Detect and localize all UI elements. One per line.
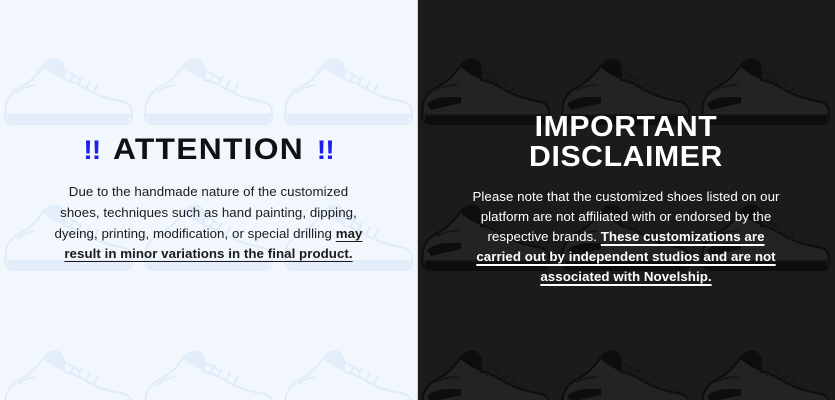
disclaimer-panel: IMPORTANT DISCLAIMER Please note that th… <box>417 0 835 400</box>
disclaimer-panel-content: IMPORTANT DISCLAIMER Please note that th… <box>417 113 835 286</box>
disclaimer-heading: IMPORTANT DISCLAIMER <box>434 113 819 173</box>
customization-disclaimer-banner: !! ATTENTION !! Due to the handmade natu… <box>0 0 835 400</box>
attention-body-text: Due to the handmade nature of the custom… <box>54 182 364 264</box>
attention-panel: !! ATTENTION !! Due to the handmade natu… <box>0 0 417 400</box>
double-exclamation-left-icon: !! <box>83 137 100 164</box>
panel-divider <box>417 0 418 400</box>
disclaimer-heading-line1: IMPORTANT <box>535 111 718 143</box>
attention-heading-text: ATTENTION <box>113 135 304 165</box>
disclaimer-body-text: Please note that the customized shoes li… <box>464 187 789 287</box>
attention-heading: !! ATTENTION !! <box>13 135 404 165</box>
double-exclamation-right-icon: !! <box>317 137 334 164</box>
attention-panel-content: !! ATTENTION !! Due to the handmade natu… <box>0 135 417 264</box>
attention-body-normal: Due to the handmade nature of the custom… <box>54 184 356 240</box>
disclaimer-heading-line2: DISCLAIMER <box>529 141 723 173</box>
